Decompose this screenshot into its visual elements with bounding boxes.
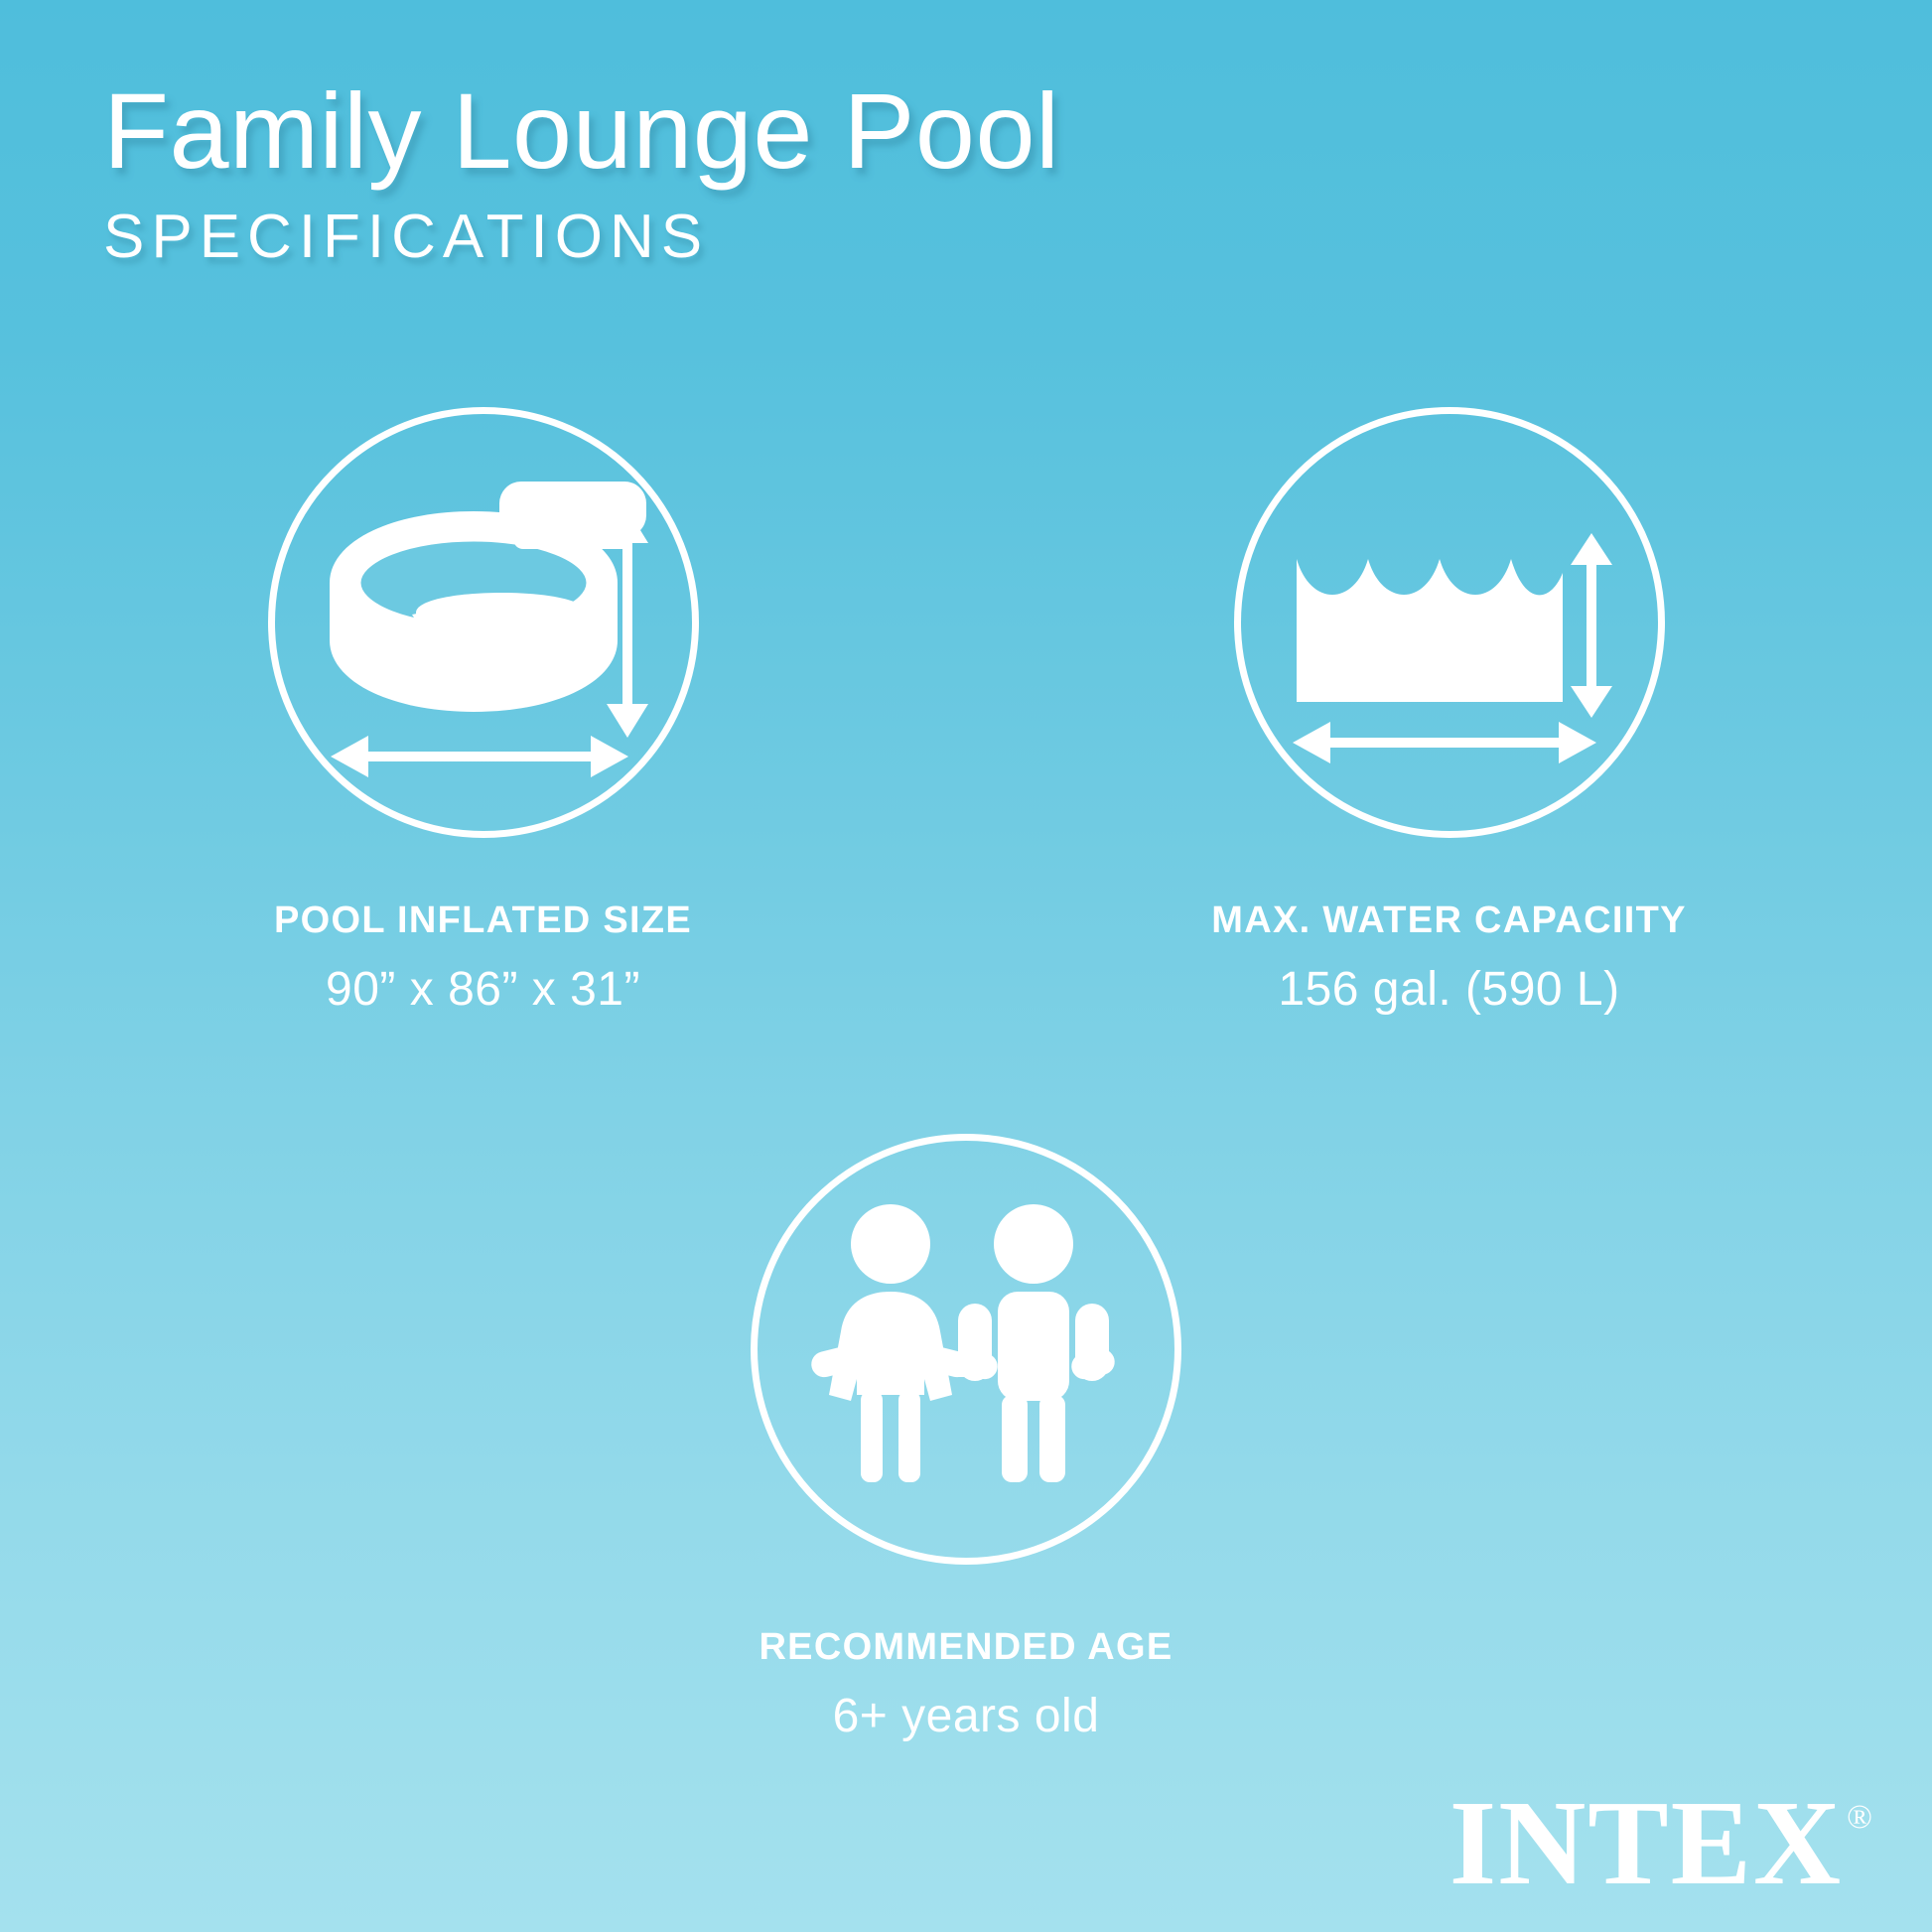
brand-name: INTEX [1449,1783,1843,1904]
height-arrow-icon [605,509,650,738]
intex-logo: INTEX ® [1449,1783,1872,1904]
depth-arrow-icon [1569,533,1614,718]
spec-row-top: POOL INFLATED SIZE 90” x 86” x 31” [0,407,1932,1017]
spec-label: POOL INFLATED SIZE [274,899,692,942]
header: Family Lounge Pool SPECIFICATIONS [103,77,1060,268]
width-arrow-icon [1293,720,1596,765]
width-arrow-icon [331,734,628,779]
spec-row-bottom: RECOMMENDED AGE 6+ years old [0,1134,1932,1743]
spec-value: 6+ years old [833,1689,1100,1743]
two-children-icon [807,1200,1125,1498]
water-level-capacity-icon [1297,533,1563,702]
registered-trademark-icon: ® [1847,1801,1872,1835]
spec-label: MAX. WATER CAPACIITY [1211,899,1686,942]
spec-label: RECOMMENDED AGE [759,1626,1173,1669]
icon-circle [268,407,699,838]
page-subtitle: SPECIFICATIONS [103,207,1060,268]
icon-circle [751,1134,1181,1565]
icon-circle [1234,407,1665,838]
specifications-infographic: Family Lounge Pool SPECIFICATIONS [0,0,1932,1932]
spec-value: 90” x 86” x 31” [326,962,640,1017]
spec-card-recommended-age: RECOMMENDED AGE 6+ years old [751,1134,1181,1743]
spec-card-max-water-capacity: MAX. WATER CAPACIITY 156 gal. (590 L) [966,407,1932,1017]
spec-value: 156 gal. (590 L) [1278,962,1619,1017]
spec-cards: POOL INFLATED SIZE 90” x 86” x 31” [0,407,1932,1743]
spec-card-pool-inflated-size: POOL INFLATED SIZE 90” x 86” x 31” [0,407,966,1017]
page-title: Family Lounge Pool [103,77,1060,185]
